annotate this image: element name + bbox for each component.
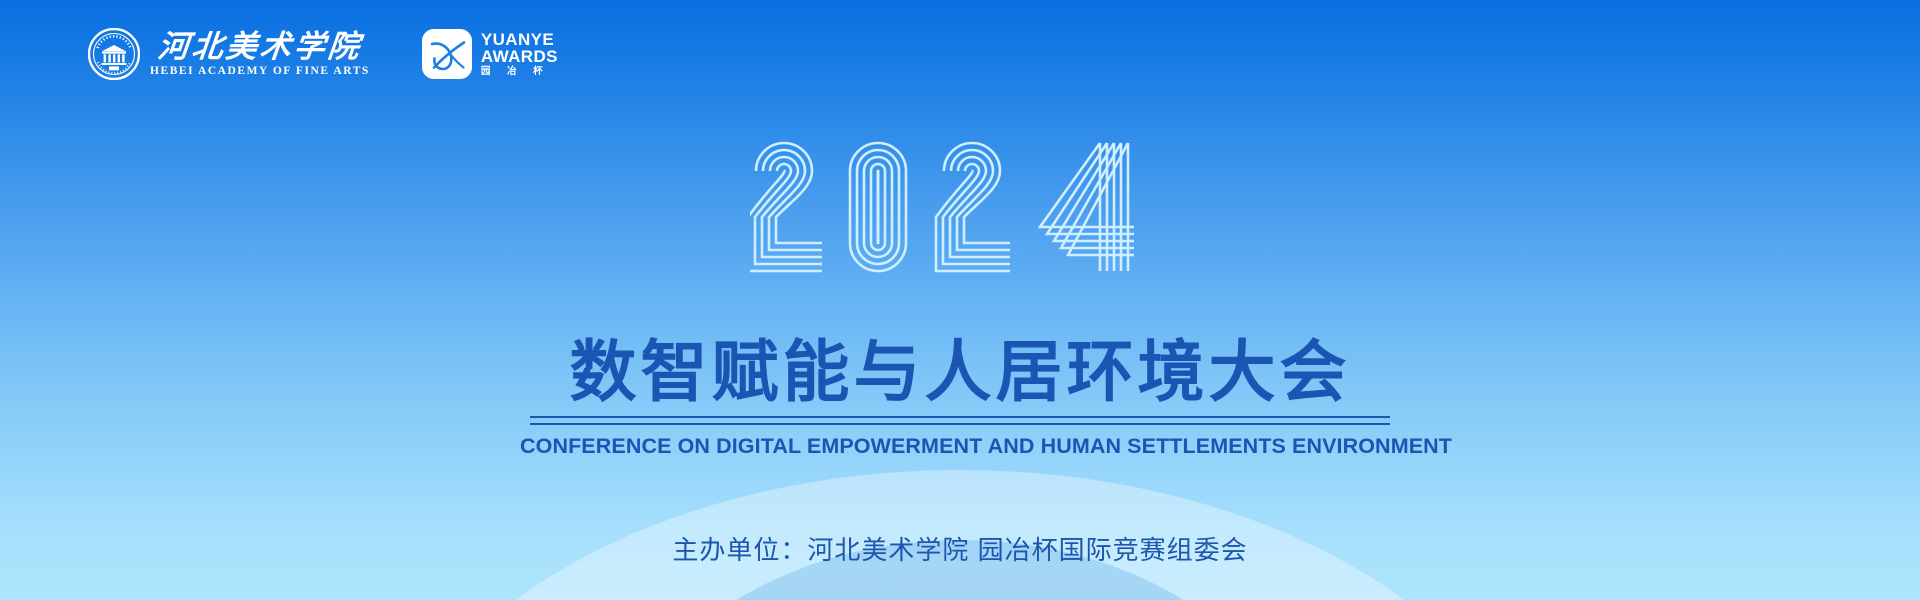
hebei-name-en: HEBEI ACADEMY OF FINE ARTS xyxy=(150,66,370,78)
yuanye-line2: AWARDS xyxy=(481,48,558,65)
page-title-cn: 数智赋能与人居环境大会 xyxy=(520,338,1400,408)
hebei-name-cn: 河北美术学院 xyxy=(156,31,363,62)
hebei-wordmark: 河北美术学院 HEBEI ACADEMY OF FINE ARTS xyxy=(150,31,370,78)
logo-yuanye-awards[interactable]: YUANYE AWARDS 园 冶 杯 xyxy=(422,29,558,79)
yuanye-leaf-icon xyxy=(422,29,472,79)
page-title-en: CONFERENCE ON DIGITAL EMPOWERMENT AND HU… xyxy=(520,434,1400,459)
yuanye-wordmark: YUANYE AWARDS 园 冶 杯 xyxy=(481,31,558,77)
year-2024-graphic xyxy=(750,133,1170,283)
hebei-seal-icon xyxy=(88,28,140,80)
yuanye-name-cn: 园 冶 杯 xyxy=(481,67,558,77)
conference-banner: 河北美术学院 HEBEI ACADEMY OF FINE ARTS YUANYE… xyxy=(0,0,1920,600)
title-divider-rule xyxy=(530,416,1390,425)
organizer-line: 主办单位：河北美术学院 园冶杯国际竞赛组委会 xyxy=(672,530,1247,567)
headline-block: 数智赋能与人居环境大会 CONFERENCE ON DIGITAL EMPOWE… xyxy=(520,338,1400,459)
yuanye-line1: YUANYE xyxy=(481,31,558,48)
logo-row: 河北美术学院 HEBEI ACADEMY OF FINE ARTS YUANYE… xyxy=(88,28,558,80)
logo-hebei-academy[interactable]: 河北美术学院 HEBEI ACADEMY OF FINE ARTS xyxy=(88,28,370,80)
